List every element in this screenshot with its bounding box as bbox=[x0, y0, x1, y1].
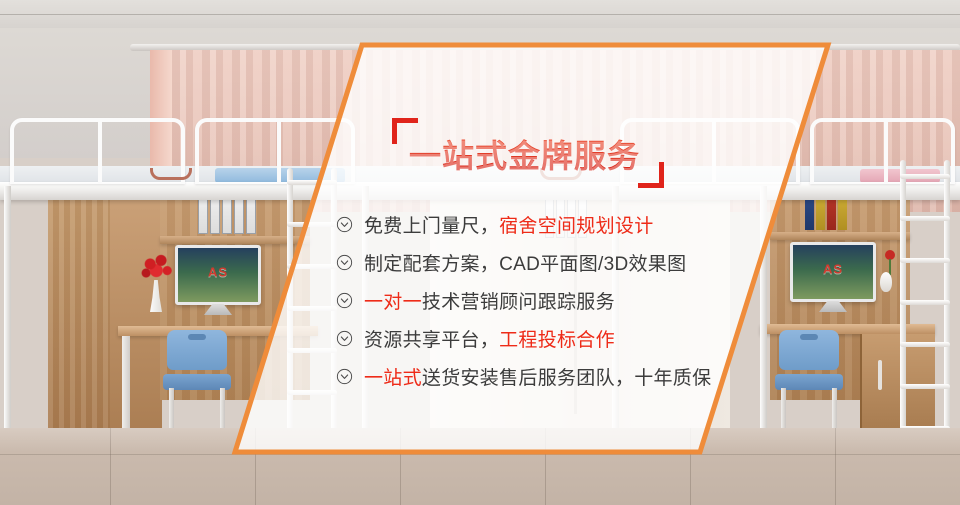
chevron-down-circle-icon bbox=[336, 368, 353, 385]
list-item-text: 资源共享平台，工程投标合作 bbox=[364, 325, 615, 352]
title-block: 一站式金牌服务 bbox=[392, 118, 664, 188]
list-item: 一站式送货安装售后服务团队，十年质保 bbox=[336, 357, 936, 395]
list-item-text: 免费上门量尺，宿舍空间规划设计 bbox=[364, 211, 654, 238]
banner-content: 一站式金牌服务 免费上门量尺，宿舍空间规划设计 制定配套方案，CAD平面图/3D… bbox=[0, 0, 960, 505]
page-title: 一站式金牌服务 bbox=[409, 131, 640, 177]
chevron-down-circle-icon bbox=[336, 330, 353, 347]
list-item-text: 一站式送货安装售后服务团队，十年质保 bbox=[364, 363, 711, 390]
chevron-down-circle-icon bbox=[336, 254, 353, 271]
service-list: 免费上门量尺，宿舍空间规划设计 制定配套方案，CAD平面图/3D效果图 一对一技… bbox=[336, 205, 936, 395]
chevron-down-circle-icon bbox=[336, 292, 353, 309]
list-item-text: 一对一技术营销顾问跟踪服务 bbox=[364, 287, 615, 314]
list-item: 一对一技术营销顾问跟踪服务 bbox=[336, 281, 936, 319]
list-item-text: 制定配套方案，CAD平面图/3D效果图 bbox=[364, 249, 686, 276]
list-item: 资源共享平台，工程投标合作 bbox=[336, 319, 936, 357]
banner-root: AS AS bbox=[0, 0, 960, 505]
list-item: 免费上门量尺，宿舍空间规划设计 bbox=[336, 205, 936, 243]
list-item: 制定配套方案，CAD平面图/3D效果图 bbox=[336, 243, 936, 281]
chevron-down-circle-icon bbox=[336, 216, 353, 233]
bracket-bottom-right-icon bbox=[638, 162, 664, 188]
